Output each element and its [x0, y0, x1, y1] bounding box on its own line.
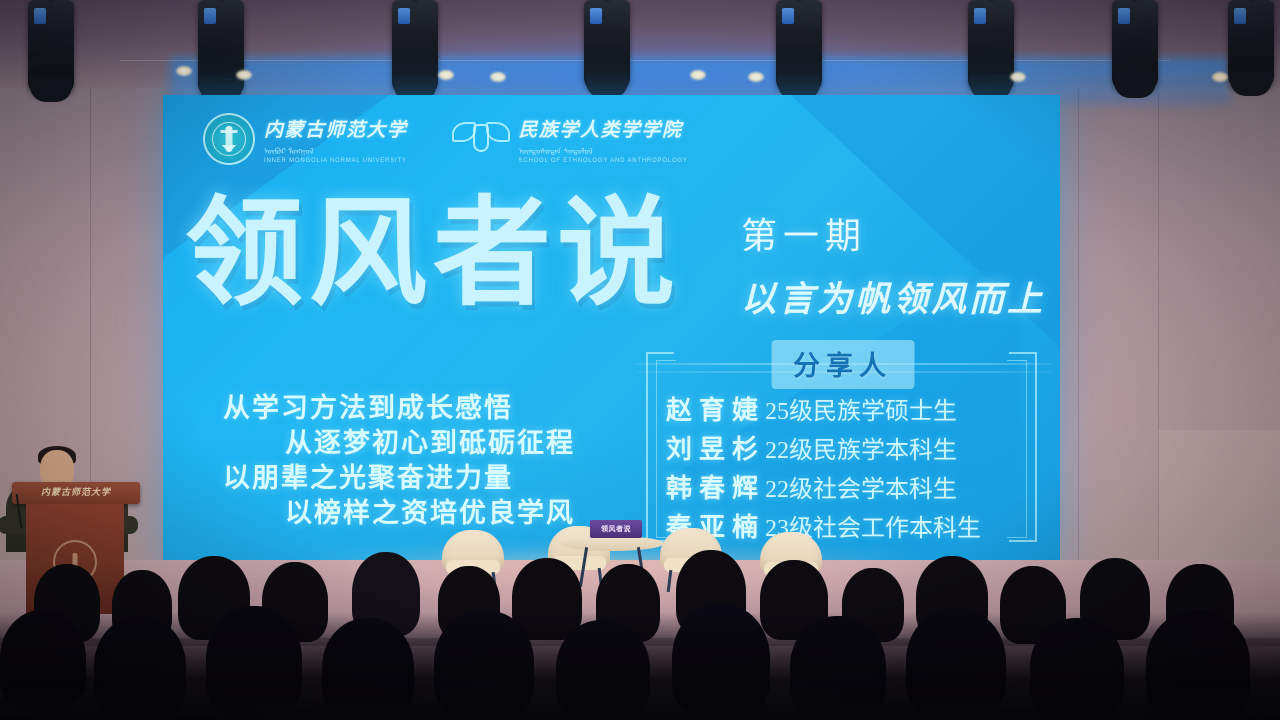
share-people-panel: 分享人 赵育婕 25级民族学硕士生 刘昱杉 22级民族学本科生 韩春辉 22级社…: [650, 340, 1035, 555]
table-name-card: 领风者说: [590, 520, 642, 538]
audience-foreground: [0, 612, 1280, 720]
issue-label: 第一期: [741, 207, 867, 259]
university-name-mn: ᠥᠪᠥᠷ ᠮᠣᠩᠭᠣᠯ: [264, 143, 408, 157]
speaker-list: 赵育婕 25级民族学硕士生 刘昱杉 22级民族学本科生 韩春辉 22级社会学本科…: [666, 390, 1021, 546]
poem-block: 从学习方法到成长感悟 从逐梦初心到砥砺征程 以朋辈之光聚奋进力量 以榜样之资培优…: [223, 391, 643, 531]
university-logo-block: 内蒙古师范大学 ᠥᠪᠥᠷ ᠮᠣᠩᠭᠣᠯ INNER MONGOLIA NORMA…: [203, 113, 408, 165]
table-card-text: 领风者说: [601, 524, 631, 534]
ceiling-spot-icon: [1212, 72, 1228, 82]
stage-light-icon: [28, 0, 74, 96]
ceiling-spot-icon: [1010, 72, 1026, 82]
school-name-mn: ᠦᠨᠳᠦᠰᠦᠲᠡᠨ ᠰᠤᠳᠤᠯᠤᠯ: [519, 143, 688, 157]
speaker-name: 韩春辉: [666, 468, 765, 505]
event-tagline: 以言为帆领风而上: [741, 271, 1045, 322]
led-stage-screen: 内蒙古师范大学 ᠥᠪᠥᠷ ᠮᠣᠩᠭᠣᠯ INNER MONGOLIA NORMA…: [163, 95, 1060, 567]
speaker-name: 赵育婕: [666, 390, 765, 427]
event-title: 领风者说: [185, 195, 681, 313]
podium-top: 内蒙古师范大学: [12, 482, 140, 504]
university-name-cn: 内蒙古师范大学: [264, 115, 408, 142]
university-name-en: INNER MONGOLIA NORMAL UNIVERSITY: [264, 158, 408, 164]
ceiling-spot-icon: [748, 72, 764, 82]
stage-light-icon: [776, 0, 822, 94]
poem-line: 从逐梦初心到砥砺征程: [223, 426, 643, 461]
ceiling-spot-icon: [438, 70, 454, 80]
speaker-name: 刘昱杉: [666, 429, 765, 466]
screen-logo-row: 内蒙古师范大学 ᠥᠪᠥᠷ ᠮᠣᠩᠭᠣᠯ INNER MONGOLIA NORMA…: [203, 113, 688, 165]
ceiling-spot-icon: [176, 66, 192, 76]
stage-light-icon: [584, 0, 630, 92]
speaker-role: 22级民族学本科生: [765, 430, 957, 465]
ceiling-spot-icon: [490, 72, 506, 82]
podium-front-text: 内蒙古师范大学: [41, 485, 111, 498]
speaker-role: 22级社会学本科生: [765, 469, 957, 504]
poem-line: 以朋辈之光聚奋进力量: [223, 461, 643, 496]
ceiling-spot-icon: [236, 70, 252, 80]
school-name-cn: 民族学人类学学院: [519, 115, 688, 142]
ceiling-spot-icon: [690, 70, 706, 80]
speaker-row: 韩春辉 22级社会学本科生: [666, 468, 1021, 505]
lecture-hall-scene: 内蒙古师范大学 ᠥᠪᠥᠷ ᠮᠣᠩᠭᠣᠯ INNER MONGOLIA NORMA…: [0, 0, 1280, 720]
school-logo-block: 民族学人类学学院 ᠦᠨᠳᠦᠰᠦᠲᠡᠨ ᠰᠤᠳᠤᠯᠤᠯ SCHOOL OF ETH…: [452, 115, 688, 164]
university-seal-icon: [203, 113, 255, 165]
stage-light-icon: [1228, 0, 1274, 90]
stage-light-icon: [1112, 0, 1158, 92]
audience-area: [0, 540, 1280, 720]
wall-seam: [1078, 70, 1079, 590]
school-name-en: SCHOOL OF ETHNOLOGY AND ANTHROPOLOGY: [519, 158, 688, 164]
speaker-row: 刘昱杉 22级民族学本科生: [666, 429, 1021, 466]
stage-light-icon: [392, 0, 438, 96]
stage-light-icon: [968, 0, 1014, 94]
share-people-badge: 分享人: [771, 340, 914, 389]
speaker-role: 25级民族学硕士生: [765, 391, 957, 426]
speaker-row: 赵育婕 25级民族学硕士生: [666, 390, 1021, 427]
poem-line: 从学习方法到成长感悟: [223, 391, 643, 426]
stage-light-icon: [198, 0, 244, 98]
winged-emblem-icon: [452, 116, 510, 162]
